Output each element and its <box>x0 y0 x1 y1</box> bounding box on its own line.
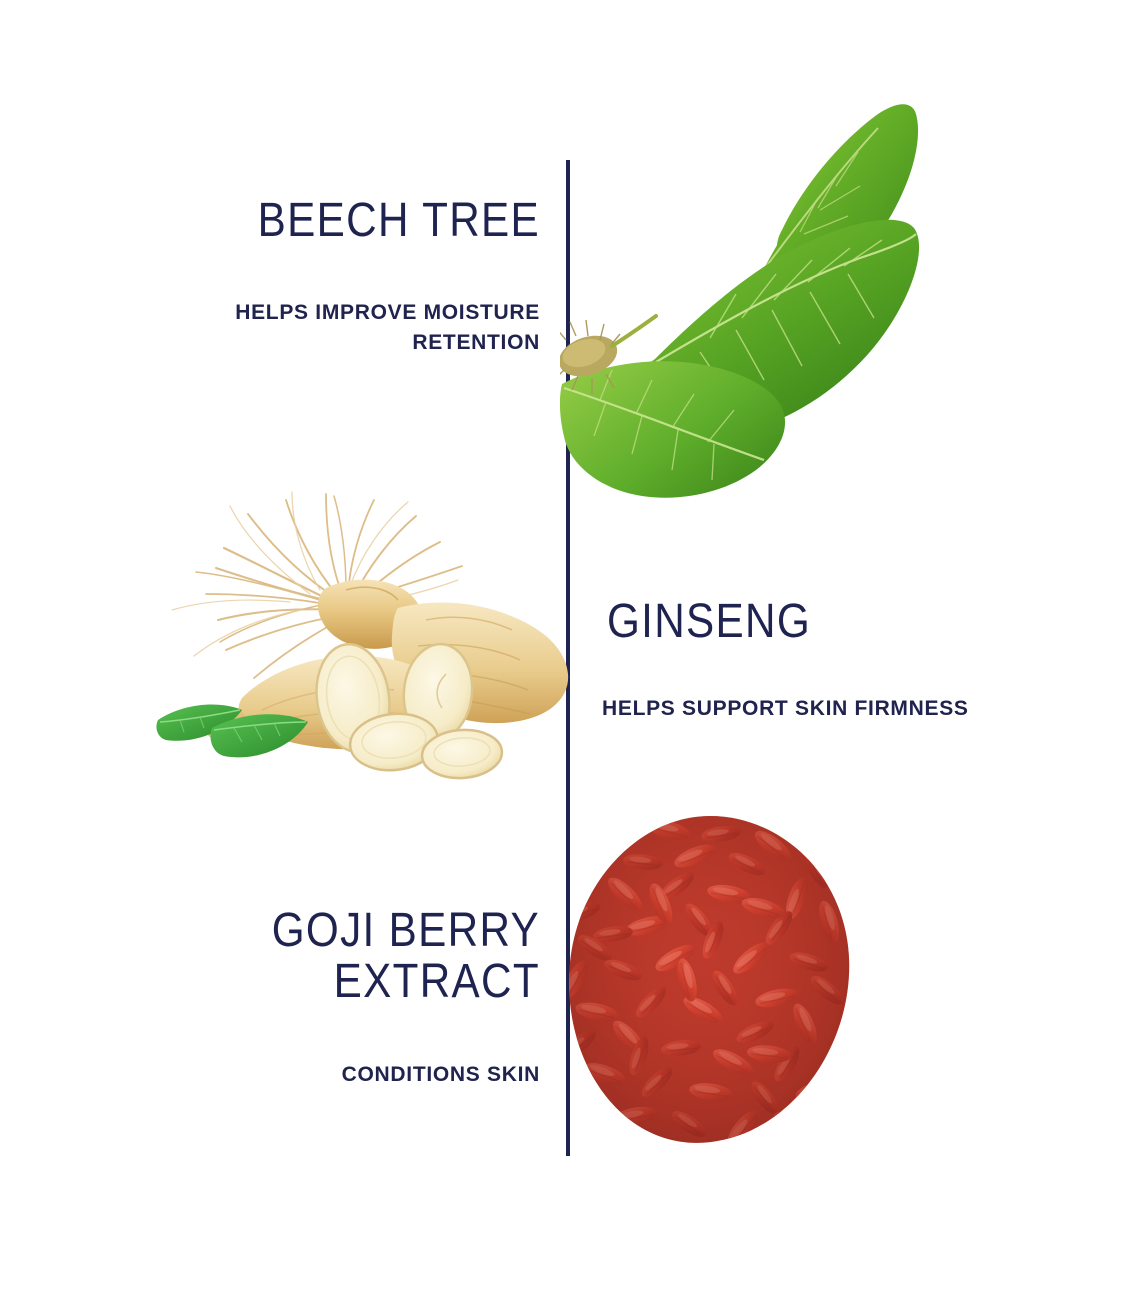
ingredient-benefit-ginseng: HELPS SUPPORT SKIN FIRMNESS <box>602 694 1072 724</box>
goji-berries-image <box>565 812 855 1157</box>
beech-leaves-image <box>560 88 920 518</box>
ingredient-title-beech-tree: BEECH TREE <box>197 196 540 247</box>
ginseng-root-image <box>150 470 570 780</box>
ingredient-title-goji-berry-extract: GOJI BERRY EXTRACT <box>197 906 540 1008</box>
ingredient-benefit-beech-tree: HELPS IMPROVE MOISTURE RETENTION <box>140 298 540 359</box>
ingredient-benefit-goji-berry-extract: CONDITIONS SKIN <box>140 1060 540 1090</box>
ingredient-title-ginseng: GINSENG <box>607 597 1012 648</box>
ingredient-benefits-panel: BEECH TREE HELPS IMPROVE MOISTURE RETENT… <box>0 0 1130 1310</box>
